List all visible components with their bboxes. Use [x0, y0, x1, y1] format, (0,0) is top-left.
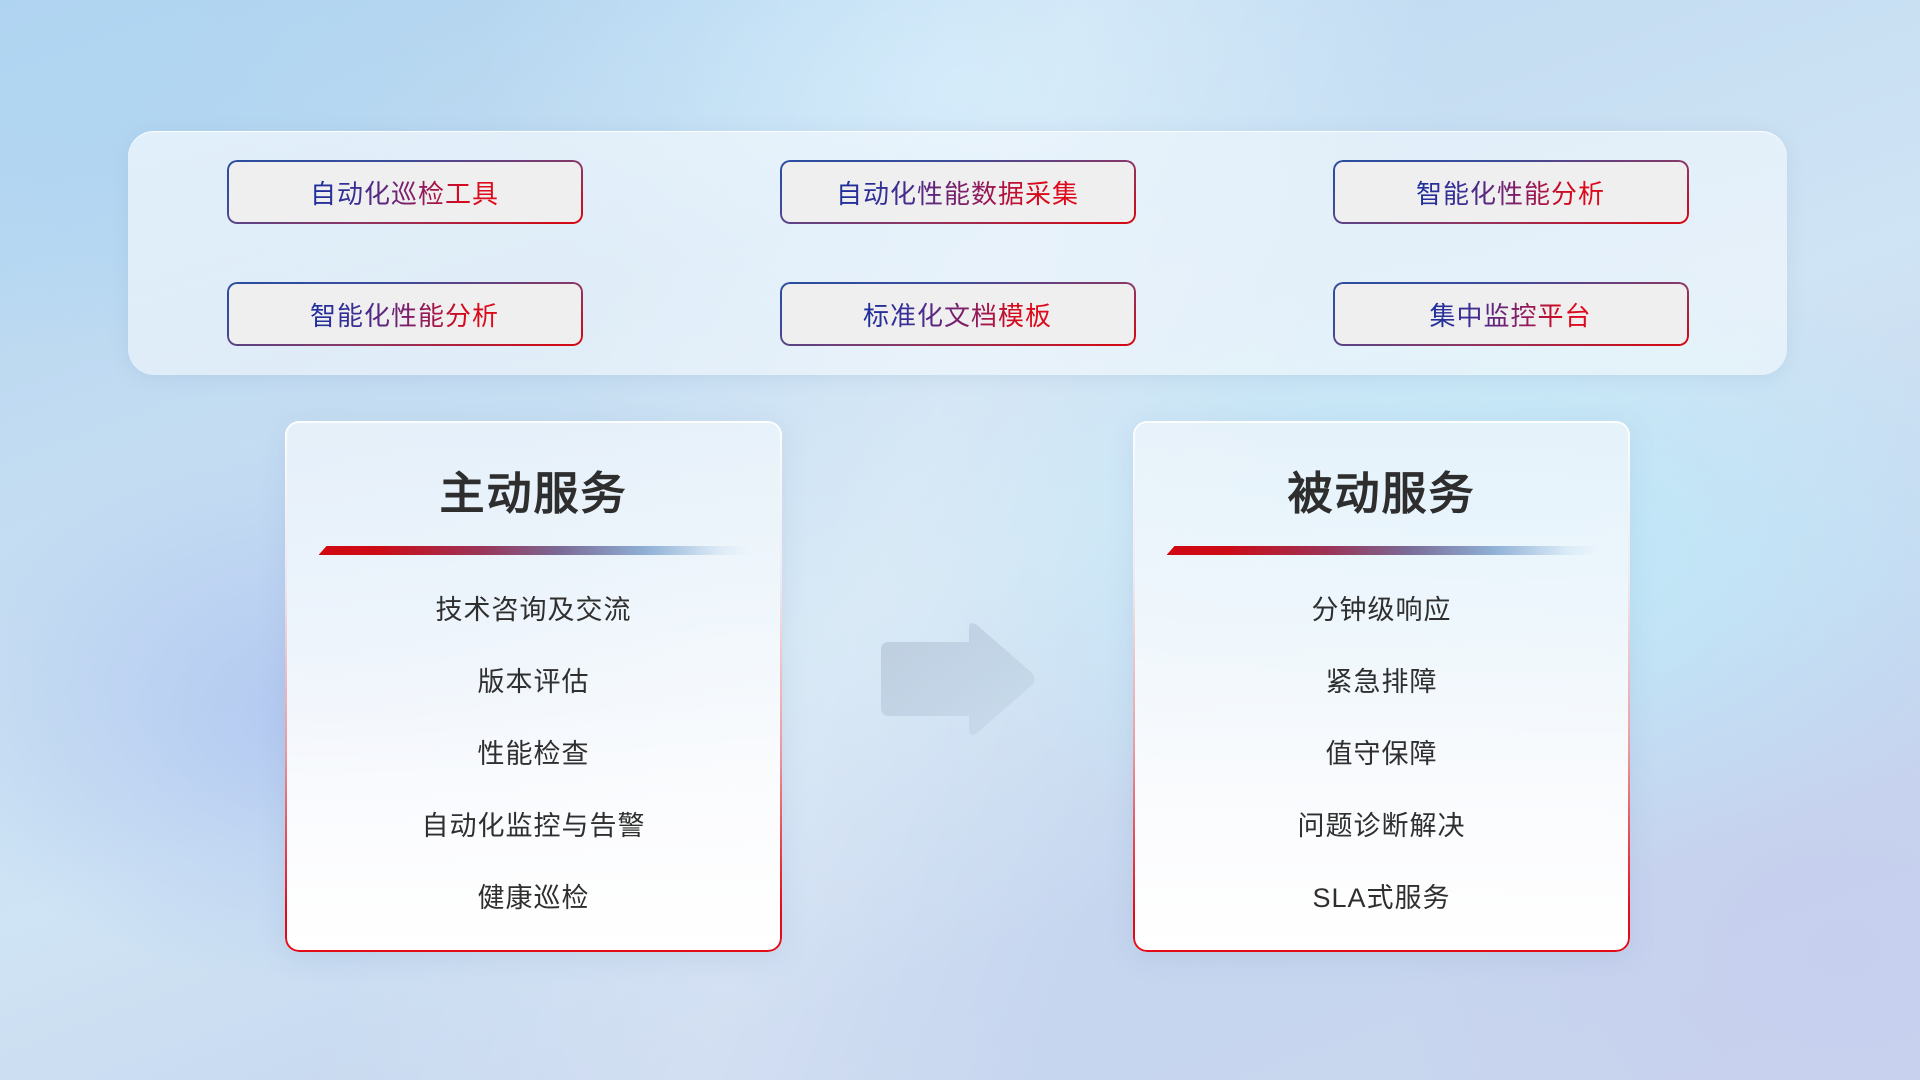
tag-button-3-label: 智能化性能分析	[1416, 174, 1605, 211]
capability-tags-panel: 自动化巡检工具 自动化性能数据采集 智能化性能分析 智能化性能分析 标准化文档模…	[128, 131, 1787, 375]
service-card-active-title: 主动服务	[285, 457, 782, 522]
tag-button-4-label: 智能化性能分析	[310, 296, 499, 333]
tag-button-1[interactable]: 自动化巡检工具	[227, 160, 583, 224]
service-card-active: 主动服务 技术咨询及交流 版本评估 性能检查 自动化监控与告警 健康巡检	[285, 421, 782, 952]
service-card-passive-divider	[1167, 546, 1597, 555]
service-card-active-list: 技术咨询及交流 版本评估 性能检查 自动化监控与告警 健康巡检	[285, 597, 782, 912]
list-item: 紧急排障	[1133, 669, 1630, 696]
list-item: 技术咨询及交流	[285, 597, 782, 624]
service-card-active-divider	[319, 546, 749, 555]
tag-button-4[interactable]: 智能化性能分析	[227, 282, 583, 346]
service-card-passive: 被动服务 分钟级响应 紧急排障 值守保障 问题诊断解决 SLA式服务	[1133, 421, 1630, 952]
right-arrow-icon	[873, 620, 1038, 740]
list-item: 分钟级响应	[1133, 597, 1630, 624]
tag-button-2-label: 自动化性能数据采集	[836, 174, 1079, 211]
tag-button-6[interactable]: 集中监控平台	[1333, 282, 1689, 346]
tag-button-6-label: 集中监控平台	[1429, 296, 1591, 333]
tag-button-5-label: 标准化文档模板	[863, 296, 1052, 333]
service-card-passive-title: 被动服务	[1133, 457, 1630, 522]
list-item: 值守保障	[1133, 741, 1630, 768]
service-card-passive-list: 分钟级响应 紧急排障 值守保障 问题诊断解决 SLA式服务	[1133, 597, 1630, 912]
tag-button-5[interactable]: 标准化文档模板	[780, 282, 1136, 346]
list-item: 版本评估	[285, 669, 782, 696]
list-item: 自动化监控与告警	[285, 813, 782, 840]
tag-button-3[interactable]: 智能化性能分析	[1333, 160, 1689, 224]
tag-button-2[interactable]: 自动化性能数据采集	[780, 160, 1136, 224]
tag-button-1-label: 自动化巡检工具	[310, 174, 499, 211]
list-item: 健康巡检	[285, 885, 782, 912]
list-item: SLA式服务	[1133, 885, 1630, 912]
list-item: 问题诊断解决	[1133, 813, 1630, 840]
list-item: 性能检查	[285, 741, 782, 768]
